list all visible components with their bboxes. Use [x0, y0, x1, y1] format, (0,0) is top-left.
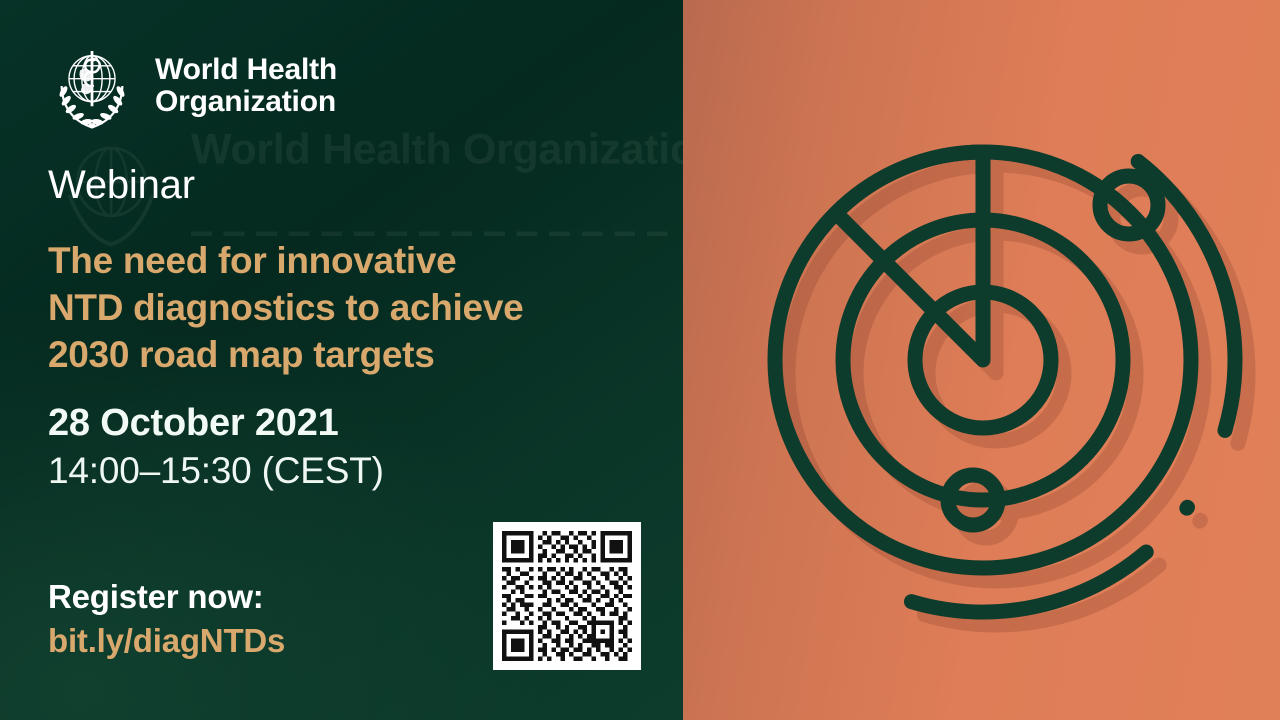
who-emblem-icon [46, 40, 138, 132]
webinar-poster: World Health Organization [0, 0, 1280, 720]
radar-sweep-icon [683, 0, 1280, 720]
event-date: 28 October 2021 [48, 402, 339, 445]
qr-code[interactable] [493, 522, 641, 670]
left-info-panel: World Health Organization [0, 0, 683, 720]
event-time: 14:00–15:30 (CEST) [48, 450, 384, 492]
register-url[interactable]: bit.ly/diagNTDs [48, 622, 285, 660]
event-title: The need for innovative NTD diagnostics … [48, 238, 648, 379]
event-kicker: Webinar [48, 163, 195, 208]
watermark-text: World Health Organization [191, 128, 683, 173]
watermark-rule [191, 232, 679, 236]
radar-artwork [683, 6, 1280, 713]
who-logo-text: World Health Organization [155, 54, 337, 119]
register-label: Register now: [48, 578, 264, 616]
qr-code-icon [502, 531, 632, 661]
who-logo: World Health Organization [46, 40, 337, 132]
right-illustration-panel [683, 0, 1280, 720]
